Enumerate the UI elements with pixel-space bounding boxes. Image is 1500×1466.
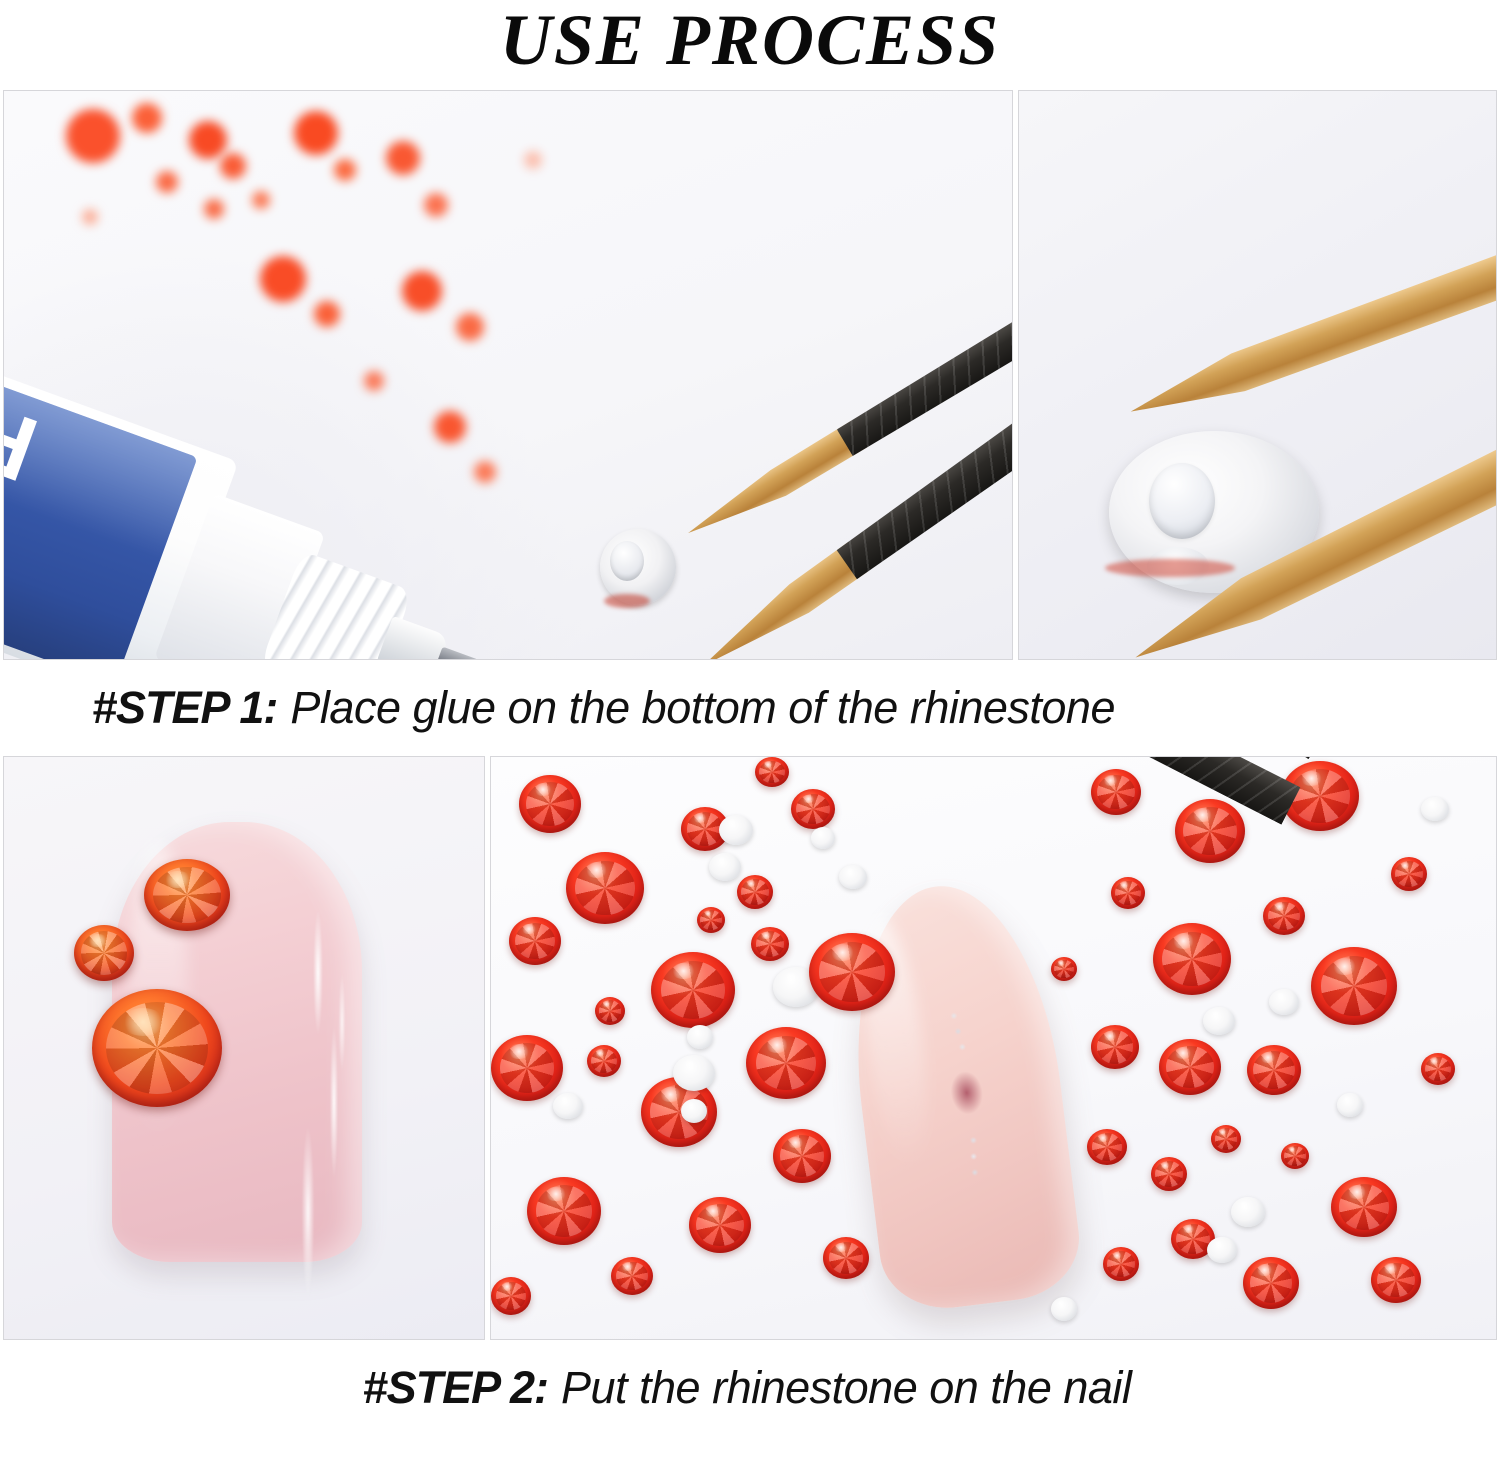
- tweezer-arm-lower: [1122, 394, 1497, 660]
- nail-gem-top: [144, 859, 230, 931]
- tweezers: [594, 209, 1013, 629]
- rhinestone-being-placed: [809, 933, 895, 1011]
- step-2-text: Put the rhinestone on the nail: [561, 1362, 1131, 1414]
- step-2-number: #STEP 2:: [363, 1362, 548, 1414]
- tweezer-arm-lower: [772, 756, 1334, 759]
- panel-glue-bottle: GL RH: [3, 90, 1013, 660]
- nail-gem-small: [74, 925, 134, 981]
- step-2-caption: #STEP 2: Put the rhinestone on the nail: [0, 1340, 1500, 1436]
- nail-gem-large: [92, 989, 222, 1107]
- step-1-caption: #STEP 1: Place glue on the bottom of the…: [0, 660, 1500, 756]
- tweezer-arm-upper: [711, 756, 1300, 825]
- tweezer-rubber-grip: [835, 299, 1013, 457]
- tweezer-rubber-grip: [1019, 756, 1300, 825]
- tweezer-arm-upper: [1123, 212, 1497, 431]
- step-1-image-row: GL RH: [0, 90, 1500, 660]
- page-title: USE PROCESS: [0, 0, 1500, 90]
- tweezer-arm-upper: [681, 299, 1013, 550]
- step-1-number: #STEP 1:: [92, 682, 277, 734]
- panel-tweezers-closeup: [1018, 90, 1497, 660]
- gel-swirl: [272, 912, 382, 1312]
- tweezer-gold-tip: [681, 419, 868, 550]
- tweezers: [1019, 91, 1496, 659]
- panel-applying-stone: [490, 756, 1497, 1340]
- bottle-label-line1: GL: [3, 443, 13, 585]
- tweezer-gold-tip: [1123, 212, 1497, 431]
- step-1-text: Place glue on the bottom of the rhinesto…: [290, 682, 1115, 734]
- panel-finished-nail: [3, 756, 485, 1340]
- tweezer-gold-tip: [1122, 394, 1497, 660]
- tweezers: [491, 757, 1496, 1339]
- step-2-image-row: [0, 756, 1500, 1340]
